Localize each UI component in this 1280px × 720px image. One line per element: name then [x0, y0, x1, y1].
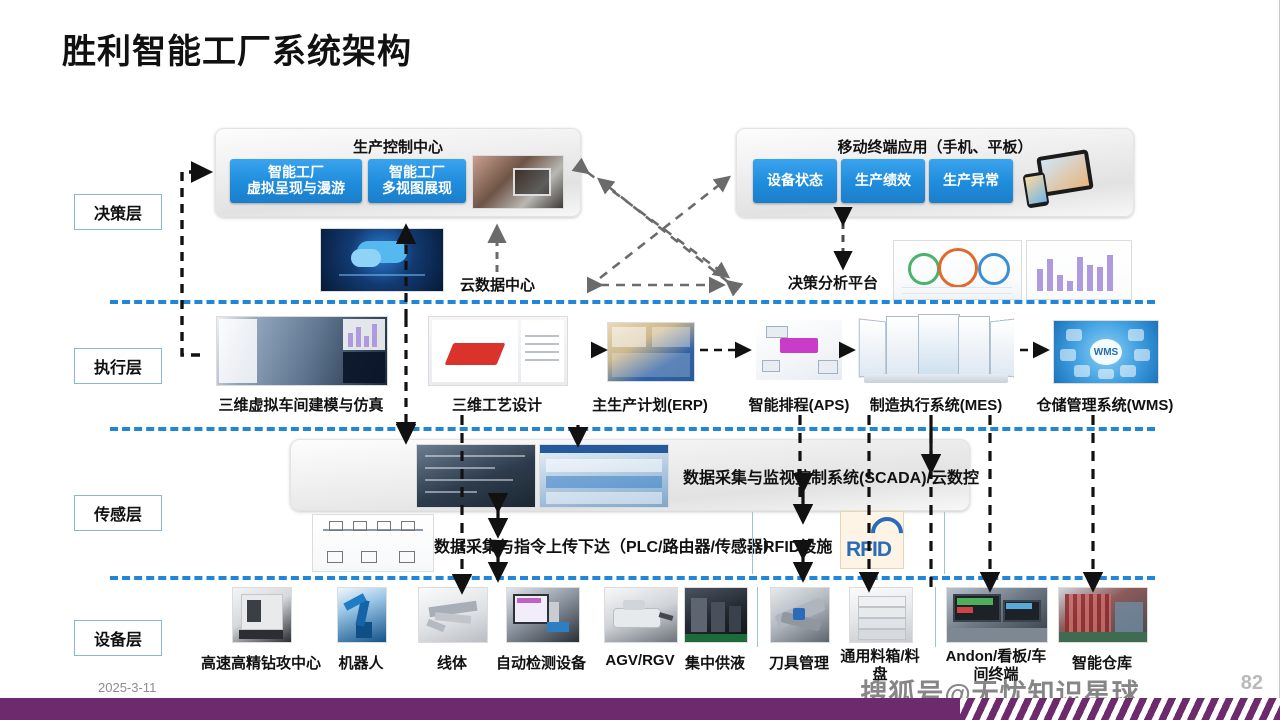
execution-item-label-1: 三维工艺设计 — [452, 394, 542, 415]
separator-sensor-equipment — [110, 576, 1155, 580]
equipment-image-8 — [946, 587, 1048, 643]
tablet-phone-photo — [1021, 149, 1097, 211]
equipment-label-6: 刀具管理 — [769, 652, 829, 673]
button-virtual-presentation[interactable]: 智能工厂 虚拟呈现与漫游 — [230, 159, 362, 203]
button-line1: 智能工厂 — [382, 165, 452, 181]
page-title: 胜利智能工厂系统架构 — [62, 24, 412, 73]
wms-badge: WMS — [1090, 339, 1122, 365]
rfid-label: RFID设施 — [763, 533, 832, 557]
button-line2: 虚拟呈现与漫游 — [247, 181, 345, 197]
gauge-dashboard-image — [893, 240, 1022, 300]
execution-item-label-3: 智能排程(APS) — [749, 394, 850, 415]
mes-system-image — [858, 314, 1014, 386]
button-equipment-status[interactable]: 设备状态 — [753, 159, 837, 203]
equipment-image-2 — [418, 587, 488, 643]
panel-title: 生产控制中心 — [216, 136, 580, 157]
button-multiview-display[interactable]: 智能工厂 多视图展现 — [368, 159, 466, 203]
equipment-label-9: 智能仓库 — [1072, 652, 1132, 673]
layer-label-decision[interactable]: 决策层 — [74, 194, 162, 230]
3d-workshop-simulation-image — [216, 316, 388, 386]
button-production-performance[interactable]: 生产绩效 — [841, 159, 925, 203]
execution-item-label-4: 制造执行系统(MES) — [870, 394, 1003, 415]
arrow-cross-left — [600, 180, 728, 282]
rfid-logo-text: RFID — [846, 538, 891, 562]
equipment-image-1 — [337, 587, 387, 643]
layer-label-text: 传感层 — [94, 501, 142, 525]
aps-scheduling-image — [756, 320, 842, 380]
sensor-divider-1 — [752, 512, 753, 574]
operator-tablet-photo — [472, 155, 564, 209]
cloud-data-center-label: 云数据中心 — [460, 274, 535, 295]
equipment-label-1: 机器人 — [338, 652, 383, 673]
execution-item-label-5: 仓储管理系统(WMS) — [1037, 394, 1174, 415]
equipment-label-5: 集中供液 — [685, 652, 745, 673]
equipment-label-3: 自动检测设备 — [496, 652, 586, 673]
mobile-terminal-panel[interactable]: 移动终端应用（手机、平板） 设备状态 生产绩效 生产异常 — [736, 128, 1134, 217]
equipment-image-0 — [232, 587, 292, 643]
equipment-label-2: 线体 — [437, 652, 467, 673]
scada-panel[interactable]: 数据采集与监视控制系统(SCADA)/云数控 — [290, 439, 970, 511]
footer-solid — [0, 698, 960, 720]
button-label: 设备状态 — [767, 173, 823, 189]
button-line2: 多视图展现 — [382, 181, 452, 197]
scada-screen-1-image — [416, 444, 536, 508]
production-control-center-panel[interactable]: 生产控制中心 智能工厂 虚拟呈现与漫游 智能工厂 多视图展现 — [215, 128, 581, 217]
wms-system-image: WMS — [1053, 320, 1159, 384]
button-label: 生产异常 — [943, 173, 999, 189]
layer-label-text: 执行层 — [94, 354, 142, 378]
plc-topology-image — [312, 514, 434, 572]
equipment-divider-1 — [757, 587, 758, 647]
footer-bar — [0, 698, 1280, 720]
scada-screen-2-image — [539, 444, 669, 508]
layer-label-text: 决策层 — [94, 200, 142, 224]
execution-item-label-2: 主生产计划(ERP) — [592, 394, 708, 415]
sensor-divider-2 — [944, 512, 945, 574]
separator-decision-execution — [110, 300, 1155, 304]
scada-label: 数据采集与监视控制系统(SCADA)/云数控 — [683, 464, 979, 488]
3d-process-design-image — [428, 316, 568, 386]
separator-execution-sensor — [110, 427, 1155, 431]
slide-date: 2025-3-11 — [98, 680, 156, 695]
equipment-image-3 — [506, 587, 580, 643]
arrow-cross-right — [587, 172, 727, 276]
equipment-image-6 — [770, 587, 830, 643]
layer-label-sensor[interactable]: 传感层 — [74, 495, 162, 531]
rfid-logo-image: RFID — [840, 511, 904, 569]
arrow-analytics-to-mobile — [600, 178, 728, 278]
layer-label-text: 设备层 — [94, 626, 142, 650]
equipment-image-5 — [684, 587, 748, 643]
equipment-label-0: 高速高精钻攻中心 — [201, 652, 321, 673]
equipment-divider-2 — [935, 587, 936, 647]
page-number: 82 — [1241, 672, 1263, 695]
button-label: 生产绩效 — [855, 173, 911, 189]
equipment-image-4 — [604, 587, 678, 643]
layer-label-equipment[interactable]: 设备层 — [74, 620, 162, 656]
bar-chart-image — [1026, 240, 1132, 300]
button-production-exception[interactable]: 生产异常 — [929, 159, 1013, 203]
cloud-data-center-image — [320, 228, 444, 292]
erp-plan-image — [607, 322, 695, 382]
button-line1: 智能工厂 — [247, 165, 345, 181]
arrow-execution-to-control — [182, 172, 208, 355]
equipment-label-4: AGV/RGV — [605, 652, 674, 669]
decision-analytics-label: 决策分析平台 — [788, 272, 878, 293]
execution-item-label-0: 三维虚拟车间建模与仿真 — [218, 394, 383, 415]
equipment-image-7 — [849, 587, 913, 643]
equipment-image-9 — [1058, 587, 1148, 643]
plc-label: 数据采集与指令上传下达（PLC/路由器/传感器） — [434, 533, 779, 557]
layer-label-execution[interactable]: 执行层 — [74, 348, 162, 384]
slide-canvas: 胜利智能工厂系统架构 决策层 执行层 传感层 设备层 生产控制中心 智能工厂 虚… — [0, 0, 1280, 720]
